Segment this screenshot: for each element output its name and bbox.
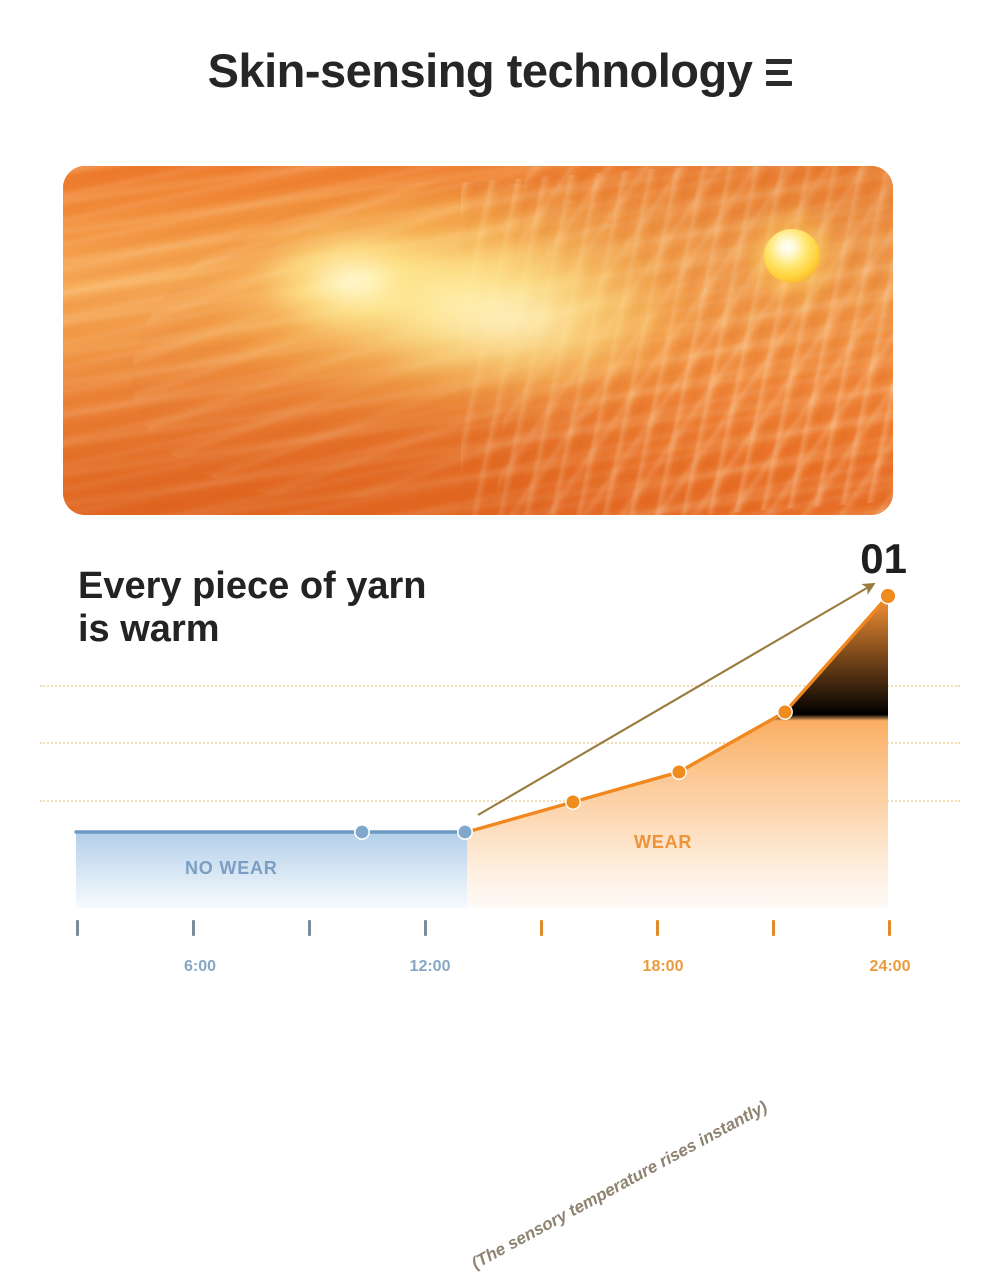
axis-tick-3 [308, 920, 311, 936]
axis-tick-8 [888, 920, 891, 936]
hamburger-bar-2 [766, 70, 788, 75]
title-wrap: Skin-sensing technology [208, 43, 793, 98]
hamburger-bar-1 [766, 59, 792, 64]
data-point-no-wear-1 [355, 825, 369, 839]
data-point-wear-2 [672, 765, 686, 779]
data-point-wear-4 [880, 588, 896, 604]
hero-shading [63, 166, 893, 515]
hamburger-icon[interactable] [766, 55, 792, 86]
axis-label-1800: 18:00 [643, 958, 684, 976]
hero-banner-image [63, 166, 893, 515]
axis-tick-1 [76, 920, 79, 936]
page-header: Skin-sensing technology [0, 0, 1000, 140]
axis-tick-6 [656, 920, 659, 936]
chart-annotation: (The sensory temperature rises instantly… [468, 1097, 771, 1274]
chart-plot-area: NO WEAR WEAR (The sensory temperature ri… [0, 515, 1000, 1000]
axis-label-1200: 12:00 [410, 958, 451, 976]
axis-label-2400: 24:00 [870, 958, 911, 976]
axis-label-0600: 6:00 [184, 958, 216, 976]
axis-tick-7 [772, 920, 775, 936]
data-point-wear-1 [566, 795, 580, 809]
chart-section: 01 Every piece of yarn is warm [0, 515, 1000, 1000]
axis-tick-5 [540, 920, 543, 936]
band-label-no-wear: NO WEAR [185, 858, 278, 879]
area-wear [467, 596, 888, 908]
data-point-wear-3 [778, 705, 792, 719]
sun-orb-icon [764, 229, 820, 283]
band-label-wear: WEAR [634, 832, 692, 853]
page-title: Skin-sensing technology [208, 43, 753, 98]
data-point-no-wear-2 [458, 825, 472, 839]
hamburger-bar-3 [766, 81, 792, 86]
axis-tick-2 [192, 920, 195, 936]
chart-x-axis: 6:00 12:00 18:00 24:00 [0, 920, 1000, 1000]
axis-tick-4 [424, 920, 427, 936]
